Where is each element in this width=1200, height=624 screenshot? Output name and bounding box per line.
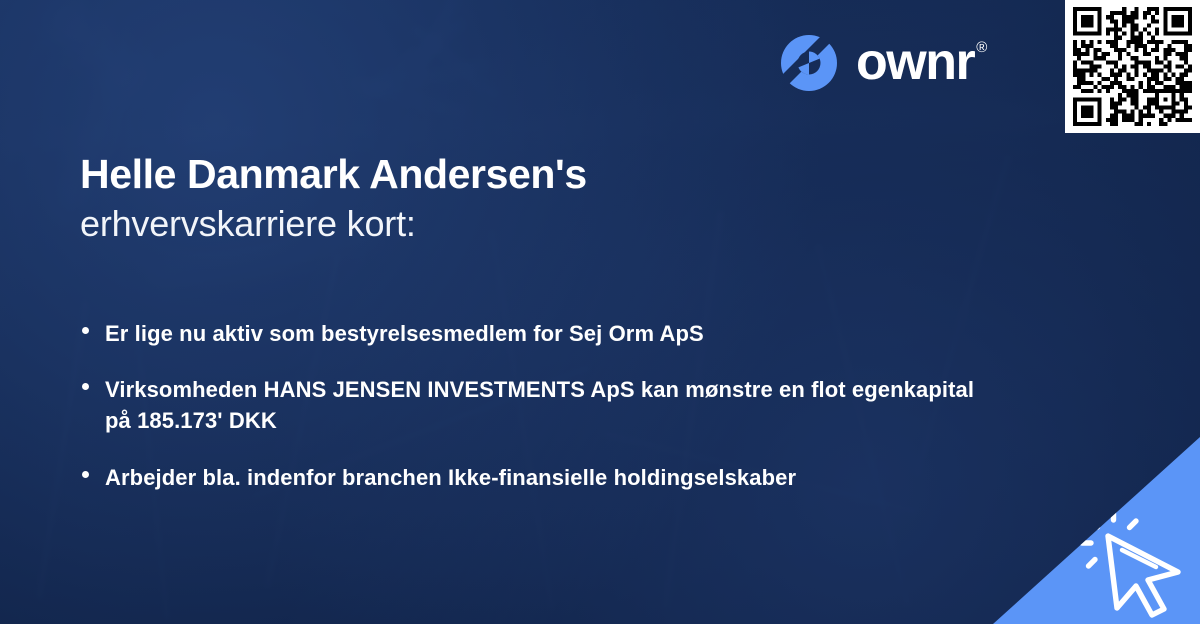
list-item: Er lige nu aktiv som bestyrelsesmedlem f… bbox=[80, 318, 980, 349]
page-title: Helle Danmark Andersen's erhvervskarrier… bbox=[80, 152, 980, 245]
title-line-2: erhvervskarriere kort: bbox=[80, 202, 980, 245]
list-item: Arbejder bla. indenfor branchen Ikke-fin… bbox=[80, 462, 980, 493]
list-item-text: Arbejder bla. indenfor branchen Ikke-fin… bbox=[105, 465, 796, 490]
business-card-graphic: ownr ® Helle Danmark Andersen's erhvervs… bbox=[0, 0, 1200, 624]
brand-name: ownr bbox=[856, 38, 974, 87]
navy-overlay bbox=[0, 0, 1200, 624]
title-line-1: Helle Danmark Andersen's bbox=[80, 152, 980, 198]
list-item-text: Virksomheden HANS JENSEN INVESTMENTS ApS… bbox=[105, 377, 974, 433]
ownr-circle-wave-logo-icon bbox=[778, 32, 840, 94]
list-item-text: Er lige nu aktiv som bestyrelsesmedlem f… bbox=[105, 321, 704, 346]
brand-wordmark: ownr ® bbox=[856, 38, 986, 87]
bullet-dot-icon bbox=[82, 327, 89, 334]
registered-trademark-mark: ® bbox=[976, 41, 986, 55]
ownr-logo: ownr ® bbox=[778, 32, 986, 94]
bullet-dot-icon bbox=[82, 471, 89, 478]
qr-code-icon[interactable] bbox=[1073, 7, 1192, 126]
bullet-dot-icon bbox=[82, 383, 89, 390]
career-facts-list: Er lige nu aktiv som bestyrelsesmedlem f… bbox=[80, 318, 980, 493]
qr-code-panel[interactable] bbox=[1065, 0, 1200, 133]
list-item: Virksomheden HANS JENSEN INVESTMENTS ApS… bbox=[80, 374, 980, 436]
